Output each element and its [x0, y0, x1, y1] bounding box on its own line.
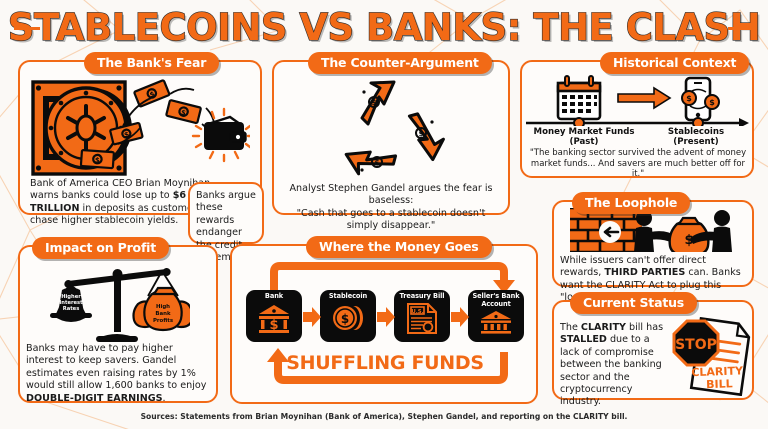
panel-title-counter-argument: The Counter-Argument: [308, 52, 492, 74]
title-rule-left: [14, 27, 40, 30]
timeline-past-period: (Past): [570, 137, 599, 147]
svg-text:$: $: [375, 159, 380, 167]
stop-label: STOP: [675, 337, 717, 353]
flow-node-bank-label: Bank: [265, 293, 283, 301]
calendar-icon: [558, 76, 600, 119]
panel-title-loophole: The Loophole: [572, 192, 690, 214]
counter-argument-line1: Analyst Stephen Gandel argues the fear i…: [282, 183, 500, 208]
historical-context-quote: "The banking sector survived the advent …: [526, 148, 750, 180]
stop-sign-document-icon: CLARITY BILL STOP: [672, 312, 754, 396]
treasury-document-icon: U.S.: [407, 303, 437, 334]
arrow-right-icon: [618, 88, 670, 108]
panel-title-impact-on-profit: Impact on Profit: [32, 237, 169, 259]
timeline-past-name: Money Market Funds: [534, 127, 635, 137]
svg-text:$: $: [372, 99, 377, 107]
title-rule-right: [728, 27, 754, 30]
flow-node-treasury-bill-label: Treasury Bill: [400, 293, 445, 301]
counter-argument-line2: "Cash that goes to a stablecoin doesn't …: [282, 208, 500, 233]
panel-title-historical-context: Historical Context: [600, 52, 749, 74]
current-status-text: The CLARITY bill has STALLED due to a la…: [560, 322, 672, 409]
scale-right-line3: Profits: [153, 318, 173, 324]
panel-title-where-money-goes: Where the Money Goes: [306, 236, 492, 258]
timeline-present-name: Stablecoins: [668, 127, 724, 137]
counter-argument-text: Analyst Stephen Gandel argues the fear i…: [282, 183, 500, 233]
flow-node-treasury-bill[interactable]: Treasury Bill U.S.: [394, 290, 450, 342]
impact-on-profit-text: Banks may have to pay higher interest to…: [26, 343, 212, 405]
flow-arrow-stablecoin-to-treasury: [377, 307, 395, 327]
flow-arrow-bank-to-stablecoin: [303, 307, 321, 327]
bank-columns-icon: [480, 310, 512, 334]
scale-right-line2: Bank: [155, 311, 171, 317]
balance-scale-icon: Higher Interest Rates High Bank Profits: [50, 262, 190, 344]
flow-arrow-treasury-to-seller: [451, 307, 469, 327]
phone-coins-icon: $ $: [682, 78, 719, 120]
panel-title-bank-fear: The Bank's Fear: [84, 52, 219, 74]
doc-label-bill: BILL: [706, 377, 733, 391]
brick-wall-handoff-icon: $: [570, 208, 742, 252]
flow-node-bank[interactable]: Bank $: [246, 290, 302, 342]
shuffling-funds-caption: SHUFFLING FUNDS: [260, 352, 510, 374]
timeline-label-present: Stablecoins (Present): [650, 127, 742, 147]
coin-stack-icon: $: [331, 303, 365, 333]
flow-node-stablecoin-label: Stablecoin: [329, 293, 367, 301]
svg-text:$: $: [95, 156, 101, 164]
historical-quote-line2: market funds... And savers are much bett…: [526, 159, 750, 180]
bank-building-icon: $: [257, 303, 291, 333]
svg-text:U.S.: U.S.: [411, 309, 423, 315]
flow-node-seller-line2: Account: [481, 300, 510, 308]
recycle-money-icon: $$$: [322, 80, 460, 184]
vault-money-icon: $ $ $ $: [30, 78, 250, 178]
scale-left-line3: Rates: [63, 306, 80, 312]
flow-node-stablecoin[interactable]: Stablecoin $: [320, 290, 376, 342]
timeline-label-past: Money Market Funds (Past): [524, 127, 644, 147]
flow-node-sellers-bank-account[interactable]: Seller's Bank Account: [468, 290, 524, 342]
svg-text:$: $: [419, 130, 424, 138]
timeline-present-period: (Present): [673, 137, 718, 147]
svg-text:$: $: [709, 98, 715, 107]
panel-title-current-status: Current Status: [570, 292, 697, 314]
svg-text:$: $: [269, 318, 278, 333]
flow-node-seller-label: Seller's Bank Account: [473, 293, 520, 308]
scale-right-line1: High: [156, 304, 170, 310]
historical-timeline-graphic: $ $: [526, 74, 750, 126]
svg-text:$: $: [341, 312, 349, 326]
sources-footer: Sources: Statements from Brian Moynihan …: [0, 412, 768, 421]
historical-quote-line1: "The banking sector survived the advent …: [526, 148, 750, 159]
page-title: STABLECOINS VS BANKS: THE CLASH: [0, 6, 768, 49]
svg-text:$: $: [686, 94, 692, 103]
